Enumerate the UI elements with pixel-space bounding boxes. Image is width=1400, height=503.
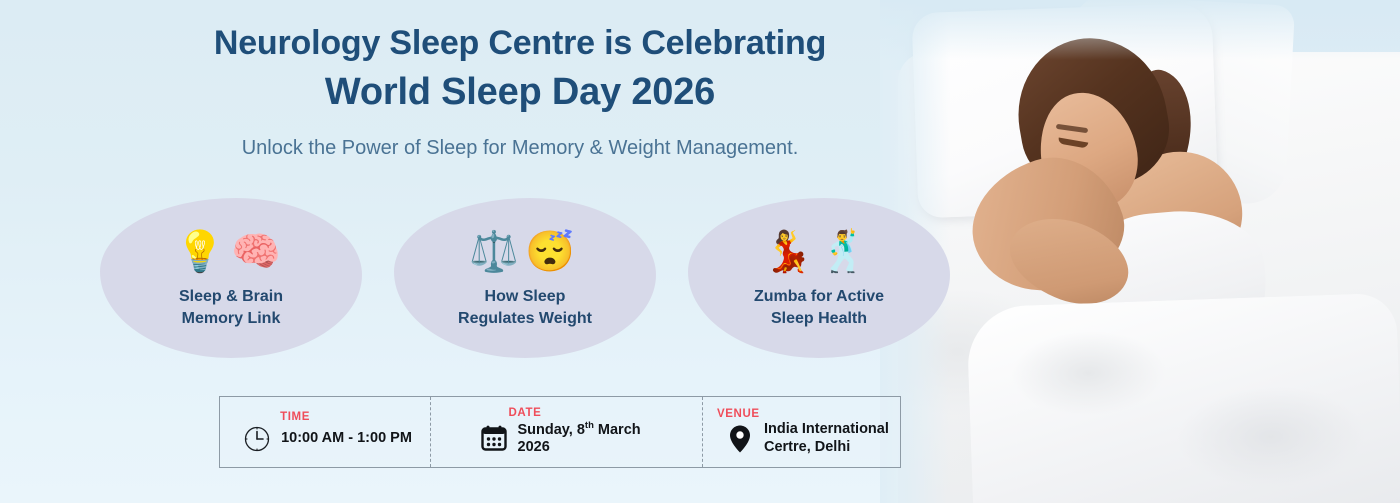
clock-icon [242,424,272,454]
feature-pill-label: Sleep & Brain Memory Link [179,286,283,330]
time-kicker-label: TIME [280,411,412,423]
venue-value-line-1: India International [764,421,889,437]
duvet [966,293,1400,503]
feature-label-line-1: How Sleep [485,288,566,305]
feature-pill-zumba-for-active-sleep-health[interactable]: 💃🕺 Zumba for Active Sleep Health [688,198,950,358]
time-value: 10:00 AM - 1:00 PM [281,430,412,448]
feature-label-line-2: Sleep Health [771,310,867,327]
page-title-line-2: World Sleep Day 2026 [0,68,1040,117]
page-title-line-1: Neurology Sleep Centre is Celebrating [0,22,1040,65]
feature-pill-label: Zumba for Active Sleep Health [754,286,884,330]
event-detail-time: TIME 10:00 AM - 1:00 PM [220,397,430,467]
date-ordinal-suffix: th [585,420,594,431]
feature-pill-how-sleep-regulates-weight[interactable]: ⚖️😴 How Sleep Regulates Weight [394,198,656,358]
venue-kicker-label: VENUE [717,408,892,420]
feature-label-line-2: Memory Link [182,310,281,327]
venue-value: India International Certre, Delhi [764,421,892,456]
event-detail-venue: VENUE India International Certre, Delhi [702,397,900,467]
light-bulb-and-brain-icon: 💡🧠 [175,232,287,272]
feature-label-line-1: Sleep & Brain [179,288,283,305]
feature-pill-label: How Sleep Regulates Weight [458,286,592,330]
page-subtitle: Unlock the Power of Sleep for Memory & W… [0,135,1040,161]
feature-label-line-2: Regulates Weight [458,310,592,327]
world-sleep-day-banner: Neurology Sleep Centre is Celebrating Wo… [0,0,1400,503]
date-value-main: Sunday, 8 [518,422,585,438]
balance-scale-and-sleeping-face-icon: ⚖️😴 [469,232,581,272]
event-detail-date: DATE [430,397,702,467]
feature-pill-list: 💡🧠 Sleep & Brain Memory Link ⚖️😴 How Sle… [100,198,960,358]
venue-value-line-2: Certre, Delhi [764,439,850,455]
date-value: Sunday, 8th March 2026 [518,420,673,457]
feature-pill-sleep-brain-memory-link[interactable]: 💡🧠 Sleep & Brain Memory Link [100,198,362,358]
feature-label-line-1: Zumba for Active [754,288,884,305]
map-pin-icon [725,424,755,454]
date-kicker-label: DATE [509,407,673,419]
headline-block: Neurology Sleep Centre is Celebrating Wo… [0,22,1040,161]
woman-dancing-and-man-dancing-icon: 💃🕺 [763,232,875,272]
event-details-bar: TIME 10:00 AM - 1:00 PM [219,396,901,468]
calendar-icon [479,423,509,453]
